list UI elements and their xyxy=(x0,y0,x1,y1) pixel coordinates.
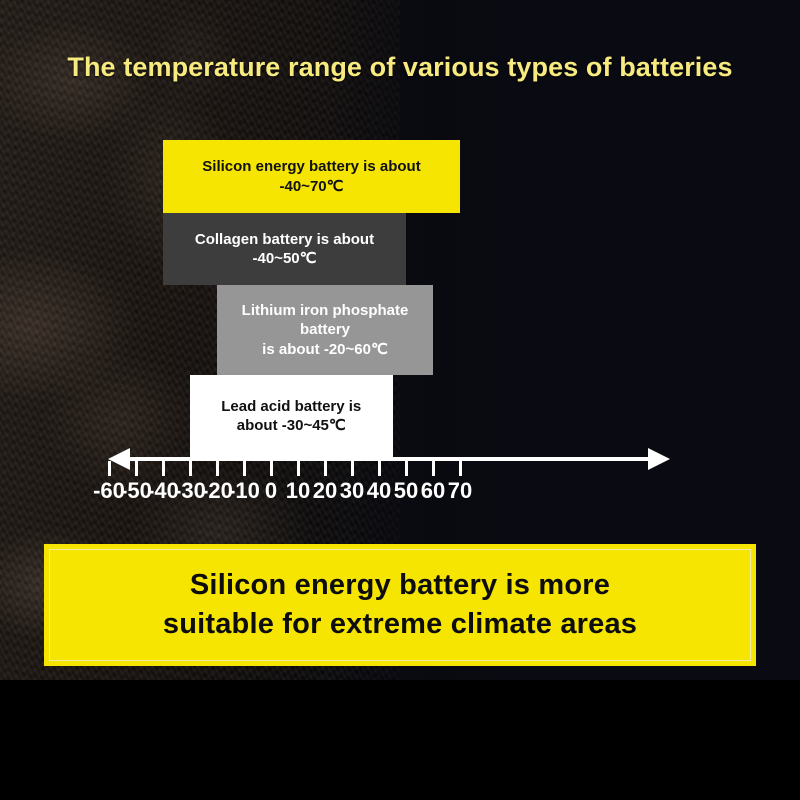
bar-label-silicon-energy-battery: Silicon energy battery is about -40~70℃ xyxy=(163,157,460,195)
conclusion-banner: Silicon energy battery is more suitable … xyxy=(44,544,756,666)
x-axis-line xyxy=(128,457,650,461)
temperature-range-chart: Silicon energy battery is about -40~70℃ … xyxy=(0,0,800,520)
x-axis-tick xyxy=(270,461,273,476)
x-axis-tick xyxy=(324,461,327,476)
x-axis-tick-label: 70 xyxy=(430,478,490,504)
infographic-root: The temperature range of various types o… xyxy=(0,0,800,800)
conclusion-banner-text: Silicon energy battery is more suitable … xyxy=(163,566,637,645)
x-axis-tick xyxy=(162,461,165,476)
bar-lithium-iron-phosphate-battery: Lithium iron phosphate battery is about … xyxy=(217,285,433,375)
x-axis-tick xyxy=(243,461,246,476)
bar-label-lithium-iron-phosphate-battery: Lithium iron phosphate battery is about … xyxy=(217,301,433,359)
bar-lead-acid-battery: Lead acid battery is about -30~45℃ xyxy=(190,375,393,457)
x-axis-tick xyxy=(297,461,300,476)
x-axis-tick xyxy=(378,461,381,476)
x-axis-tick xyxy=(351,461,354,476)
x-axis-tick xyxy=(216,461,219,476)
axis-arrow-right-icon xyxy=(648,448,670,470)
x-axis-tick xyxy=(108,461,111,476)
axis-arrow-left-icon xyxy=(108,448,130,470)
x-axis-tick xyxy=(405,461,408,476)
x-axis-tick xyxy=(189,461,192,476)
bar-label-lead-acid-battery: Lead acid battery is about -30~45℃ xyxy=(211,397,371,435)
bar-collagen-battery: Collagen battery is about -40~50℃ xyxy=(163,213,406,285)
bar-label-collagen-battery: Collagen battery is about -40~50℃ xyxy=(163,230,406,268)
x-axis-tick xyxy=(459,461,462,476)
x-axis-tick xyxy=(432,461,435,476)
x-axis-tick xyxy=(135,461,138,476)
bar-silicon-energy-battery: Silicon energy battery is about -40~70℃ xyxy=(163,140,460,213)
